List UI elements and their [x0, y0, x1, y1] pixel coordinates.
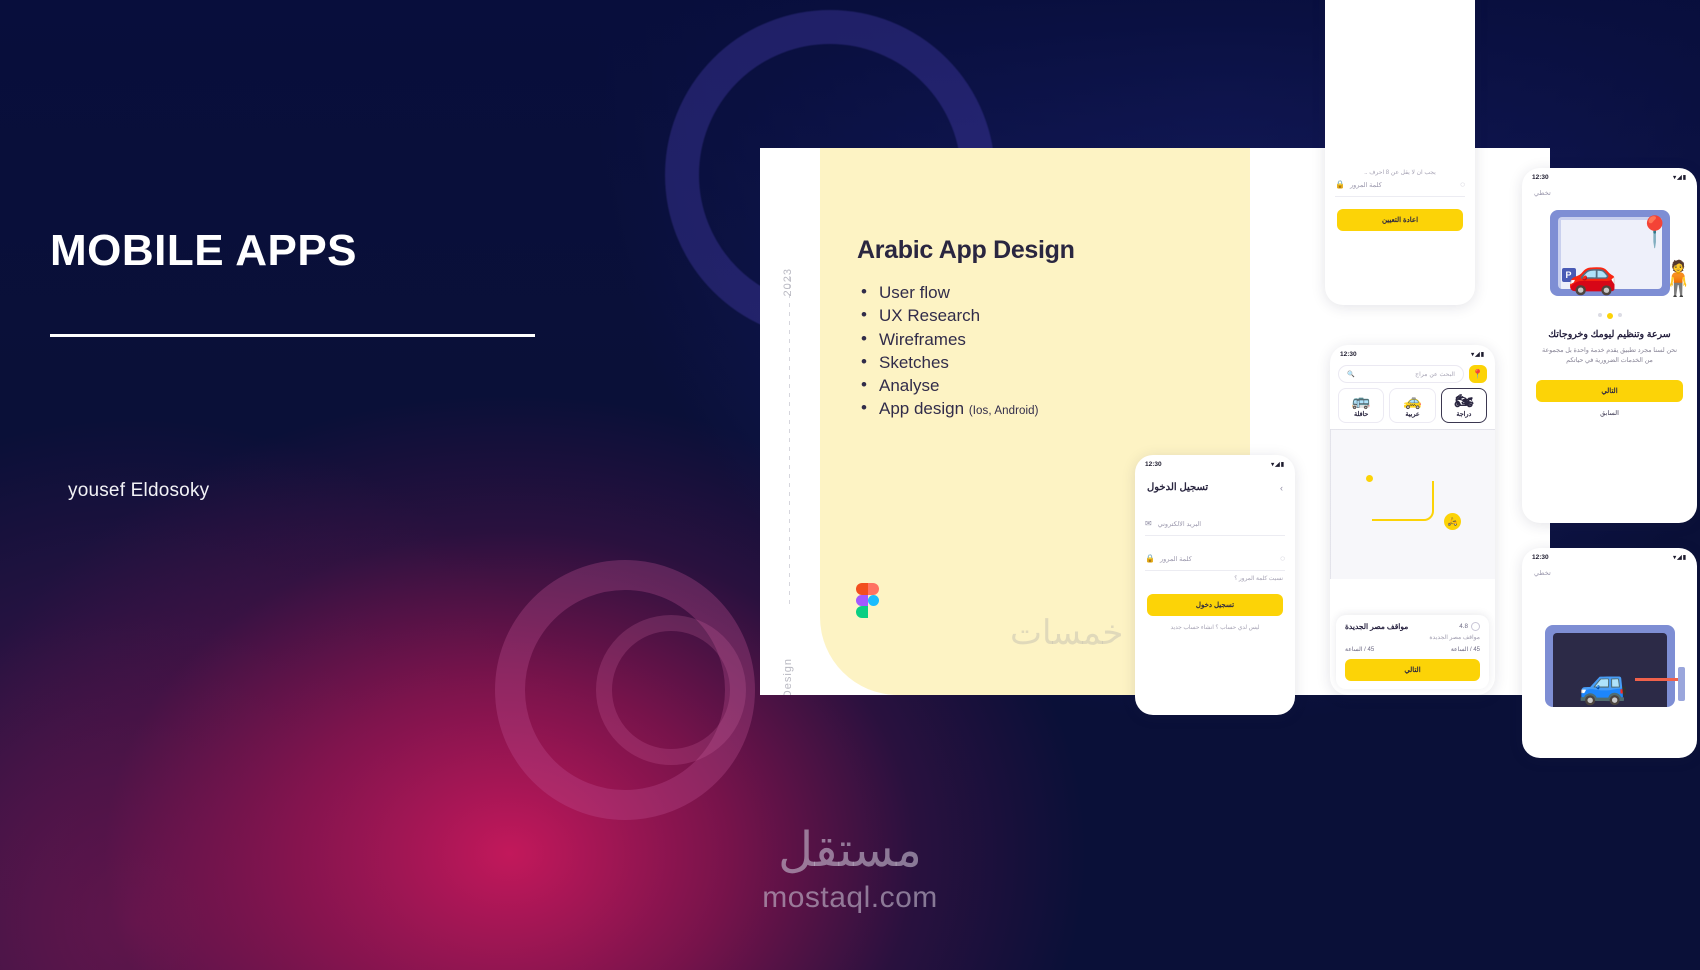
status-time: 12:30 [1532, 174, 1549, 181]
place-title: مواقف مصر الجديدة [1345, 622, 1408, 631]
status-icons: ▾◢▮ [1673, 174, 1687, 181]
presentation-slide: MOBILE APPS yousef Eldosoky 2023 UI\UX D… [0, 0, 1700, 970]
list-item-label: User flow [879, 283, 950, 302]
place-detail-sheet: 4.8 مواقف مصر الجديدة مواقف مصر الجديدة … [1336, 615, 1489, 689]
list-item: Wireframes [857, 328, 1157, 351]
vehicle-option-car[interactable]: 🚕 عربية [1389, 388, 1435, 423]
list-item: App design (Ios, Android) [857, 397, 1157, 420]
author-name: yousef Eldosoky [68, 480, 209, 502]
search-placeholder: البحث عن مراج [1415, 371, 1455, 378]
pin-badge-icon[interactable]: 📍 [1469, 365, 1487, 383]
left-text-column: MOBILE APPS [50, 228, 610, 337]
year-label: 2023 [782, 268, 794, 296]
yellow-car-front-icon: 🚙 [1579, 660, 1629, 707]
list-item: Sketches [857, 351, 1157, 374]
search-row: 📍 البحث عن مراج 🔍 [1330, 360, 1495, 383]
onboarding-body: نحن لسنا مجرد تطبيق يقدم خدمة واحدة بل م… [1522, 340, 1697, 366]
status-bar: 12:30 ▾◢▮ [1522, 168, 1697, 183]
password-field[interactable]: ◌ كلمة المرور 🔒 [1325, 176, 1475, 193]
barrier-post-icon [1678, 667, 1685, 701]
onboarding-title: سرعة وتنظيم ليومك وخروجاتك [1522, 329, 1697, 340]
password-placeholder: كلمة المرور [1350, 181, 1382, 189]
map-destination-pin[interactable]: 🛵 [1444, 513, 1461, 530]
gate-barrier-icon: 🚙 [1545, 625, 1675, 707]
password-hint: يجب ان لا يقل عن 8 احرف .. [1325, 165, 1475, 176]
password-field[interactable]: ◌ كلمة المرور 🔒 [1135, 550, 1295, 567]
mockup-login: 12:30 ▾◢▮ › تسجيل الدخول البريد الالكترو… [1135, 455, 1295, 715]
status-icons: ▾◢▮ [1271, 461, 1285, 468]
rating: 4.8 [1459, 622, 1480, 631]
motorcycle-icon: 🏍 [1442, 394, 1486, 411]
status-time: 12:30 [1145, 461, 1162, 468]
list-item: UX Research [857, 304, 1157, 327]
status-bar: 12:30 ▾◢▮ [1135, 455, 1295, 470]
carousel-dot-active[interactable] [1607, 313, 1613, 319]
map-next-button[interactable]: التالي [1345, 659, 1480, 681]
email-placeholder: البريد الالكتروني [1158, 520, 1201, 528]
mostaql-logo: مستقل mostaql.com [0, 827, 1700, 915]
khamsat-watermark: خمسات [1010, 613, 1123, 653]
vehicle-label: دراجة [1456, 411, 1471, 418]
project-copy: Arabic App Design User flow UX Research … [857, 236, 1157, 421]
place-pricing: 45 / الساعة 45 / الساعة [1345, 646, 1480, 653]
carousel-dot[interactable] [1618, 313, 1622, 317]
mostaql-logo-arabic: مستقل [0, 827, 1700, 875]
status-time: 12:30 [1340, 351, 1357, 358]
barrier-arm-icon [1635, 678, 1681, 681]
list-item-label: App design [879, 399, 964, 418]
mockup-map: 12:30 ▾◢▮ 📍 البحث عن مراج 🔍 🏍 دراجة 🚕 عر… [1330, 345, 1495, 695]
title-divider [50, 334, 535, 337]
location-marker-icon: 📍 [1636, 218, 1673, 248]
status-icons: ▾◢▮ [1471, 351, 1485, 358]
mockup-onboarding-2: 12:30 ▾◢▮ تخطي 🚙 [1522, 548, 1697, 758]
chevron-left-icon[interactable]: › [1280, 483, 1283, 493]
carousel-dot[interactable] [1598, 313, 1602, 317]
reset-password-button[interactable]: اعادة التعيين [1337, 209, 1463, 231]
deliverables-list: User flow UX Research Wireframes Sketche… [857, 281, 1157, 421]
password-placeholder: كلمة المرور [1160, 555, 1192, 563]
mail-icon: ✉ [1145, 519, 1152, 528]
skip-button[interactable]: تخطي [1522, 183, 1697, 197]
discipline-label: UI\UX Design [782, 658, 794, 695]
search-input[interactable]: البحث عن مراج 🔍 [1338, 365, 1464, 383]
card-left-strip [760, 148, 820, 695]
project-heading: Arabic App Design [857, 236, 1157, 265]
map-canvas[interactable]: 🛵 [1330, 429, 1495, 579]
list-item-label: UX Research [879, 306, 980, 325]
onboarding-illustration-2: 🚙 [1522, 577, 1697, 707]
lock-icon: 🔒 [1335, 180, 1345, 189]
bus-icon: 🚌 [1339, 394, 1383, 411]
search-icon[interactable]: 🔍 [1347, 370, 1355, 378]
mockup-onboarding-1: 12:30 ▾◢▮ تخطي P 🚗 📍 🧍 سرعة وتنظيم ليومك… [1522, 168, 1697, 523]
list-item: Analyse [857, 374, 1157, 397]
yellow-car-icon: 🚗 [1568, 254, 1618, 294]
lock-icon: 🔒 [1145, 554, 1155, 563]
vehicle-picker: 🏍 دراجة 🚕 عربية 🚌 حافلة [1330, 383, 1495, 423]
login-button[interactable]: تسجيل دخول [1147, 594, 1283, 616]
price-secondary: 45 / الساعة [1451, 646, 1480, 653]
list-item: User flow [857, 281, 1157, 304]
status-bar: 12:30 ▾◢▮ [1522, 548, 1697, 563]
forgot-password-link[interactable]: نسيت كلمة المرور ؟ [1135, 571, 1295, 582]
list-item-sublabel: (Ios, Android) [969, 405, 1039, 417]
place-subtitle: مواقف مصر الجديدة [1345, 634, 1480, 641]
mostaql-logo-latin: mostaql.com [0, 881, 1700, 915]
signup-prompt[interactable]: ليس لدي حساب ؟ انشاء حساب جديد [1135, 616, 1295, 631]
vehicle-label: عربية [1405, 411, 1419, 418]
onboarding-next-button[interactable]: التالي [1536, 380, 1683, 402]
skip-button[interactable]: تخطي [1522, 563, 1697, 577]
vehicle-option-bike[interactable]: 🏍 دراجة [1441, 388, 1487, 423]
parking-map-card-icon: P 🚗 📍 🧍 [1550, 210, 1670, 296]
list-item-label: Sketches [879, 353, 949, 372]
person-icon: 🧍 [1657, 262, 1697, 296]
vehicle-option-bus[interactable]: 🚌 حافلة [1338, 388, 1384, 423]
mockup-password-reset: يجب ان لا يقل عن 8 احرف .. ◌ كلمة المرور… [1325, 0, 1475, 305]
login-title: تسجيل الدخول [1147, 482, 1208, 493]
email-field[interactable]: البريد الالكتروني ✉ [1135, 515, 1295, 532]
price-primary: 45 / الساعة [1345, 646, 1374, 653]
onboarding-prev-button[interactable]: السابق [1522, 402, 1697, 417]
onboarding-illustration-1: P 🚗 📍 🧍 [1522, 197, 1697, 309]
figma-logo-icon [856, 583, 879, 617]
list-item-label: Wireframes [879, 330, 966, 349]
carousel-dots[interactable] [1522, 313, 1697, 319]
status-bar: 12:30 ▾◢▮ [1330, 345, 1495, 360]
rating-value: 4.8 [1459, 623, 1468, 630]
place-header: 4.8 مواقف مصر الجديدة [1345, 622, 1480, 631]
eye-off-icon[interactable]: ◌ [1280, 554, 1285, 563]
eye-off-icon[interactable]: ◌ [1460, 180, 1465, 189]
dotted-divider [789, 276, 790, 606]
list-item-label: Analyse [879, 376, 939, 395]
status-time: 12:30 [1532, 554, 1549, 561]
star-icon [1471, 622, 1480, 631]
status-icons: ▾◢▮ [1673, 554, 1687, 561]
map-route-line [1372, 481, 1434, 521]
vehicle-label: حافلة [1354, 411, 1368, 418]
page-title: MOBILE APPS [50, 228, 610, 274]
taxi-icon: 🚕 [1390, 394, 1434, 411]
